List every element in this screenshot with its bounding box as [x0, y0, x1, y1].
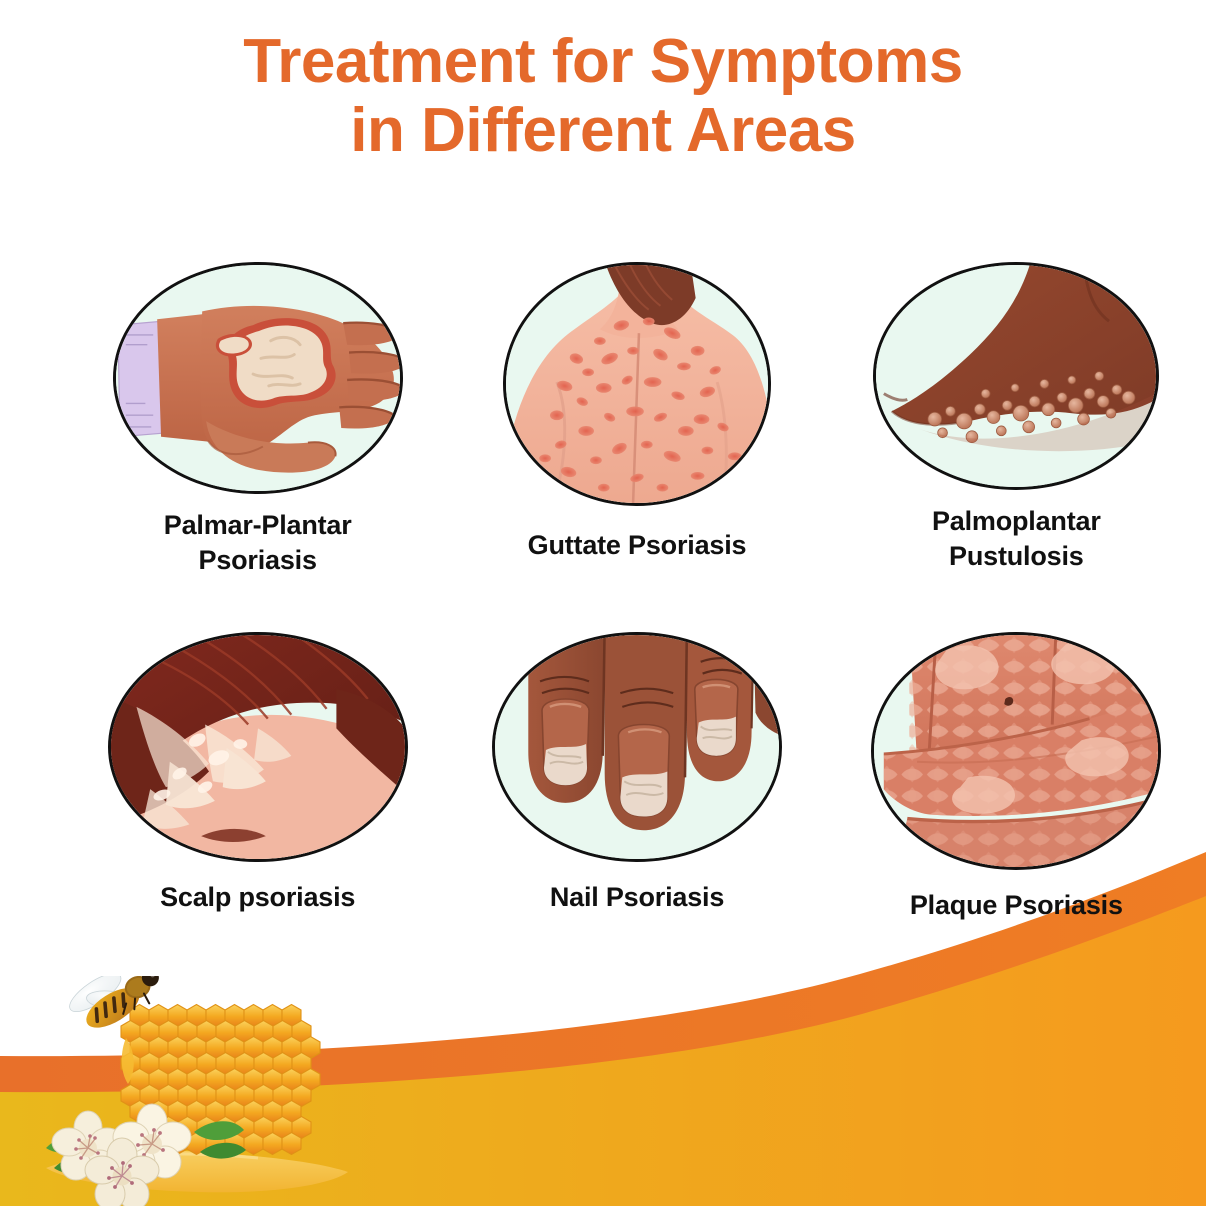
symptom-card-grid: Palmar-Plantar Psoriasis [0, 262, 1206, 932]
card-caption: Palmoplantar Pustulosis [932, 504, 1101, 573]
card-nail-psoriasis[interactable]: Nail Psoriasis [447, 632, 826, 932]
card-image-frame [492, 632, 782, 862]
card-caption: Plaque Psoriasis [910, 888, 1123, 923]
card-caption: Guttate Psoriasis [528, 528, 747, 563]
card-plaque-psoriasis[interactable]: Plaque Psoriasis [827, 632, 1206, 932]
card-palmoplantar-pustulosis[interactable]: Palmoplantar Pustulosis [827, 262, 1206, 622]
flower-cluster-icon [46, 1104, 246, 1206]
honey-decoration-group [18, 976, 418, 1206]
card-image-frame [873, 262, 1159, 490]
scalp-with-flakes-illustration [111, 635, 405, 859]
card-row-2: Scalp psoriasis [0, 632, 1206, 932]
card-image-frame [113, 262, 403, 494]
card-image-frame [108, 632, 408, 862]
card-caption: Nail Psoriasis [550, 880, 724, 915]
infographic-canvas: Treatment for Symptoms in Different Area… [0, 0, 1206, 1206]
card-guttate-psoriasis[interactable]: Guttate Psoriasis [447, 262, 826, 622]
honey-pool-icon [46, 1151, 348, 1193]
page-title: Treatment for Symptoms in Different Area… [0, 30, 1206, 162]
oval-mask [871, 632, 1161, 870]
card-caption: Scalp psoriasis [160, 880, 355, 915]
oval-mask [873, 262, 1159, 490]
card-image-frame [503, 262, 771, 506]
page-title-line-1: Treatment for Symptoms [0, 30, 1206, 93]
oval-mask [113, 262, 403, 494]
oval-mask [503, 262, 771, 506]
honeycomb-icon [121, 1005, 320, 1155]
card-image-frame [871, 632, 1161, 870]
card-row-1: Palmar-Plantar Psoriasis [0, 262, 1206, 622]
card-scalp-psoriasis[interactable]: Scalp psoriasis [68, 632, 447, 932]
oval-mask [492, 632, 782, 862]
oval-mask [108, 632, 408, 862]
page-title-line-2: in Different Areas [0, 99, 1206, 162]
hand-with-psoriasis-plaques-illustration [116, 265, 400, 491]
honeybee-icon [59, 976, 179, 1041]
back-with-guttate-spots-illustration [506, 265, 768, 503]
card-palmar-plantar-psoriasis[interactable]: Palmar-Plantar Psoriasis [68, 262, 447, 622]
foot-with-pustules-illustration [876, 265, 1156, 487]
fingers-with-nail-damage-illustration [495, 635, 779, 859]
card-caption: Palmar-Plantar Psoriasis [164, 508, 352, 577]
torso-arm-with-plaques-illustration [874, 635, 1158, 867]
